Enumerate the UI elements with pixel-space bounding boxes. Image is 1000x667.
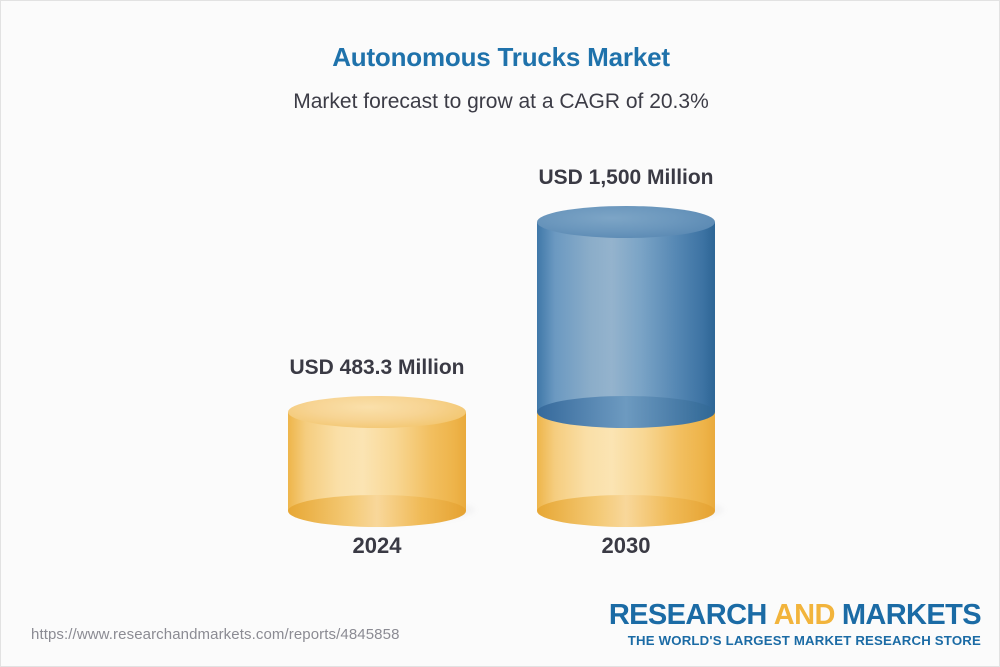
source-url-text[interactable]: https://www.researchandmarkets.com/repor…	[31, 626, 400, 643]
brand-tagline: THE WORLD'S LARGEST MARKET RESEARCH STOR…	[609, 633, 981, 648]
bar-bottom-cap-2024	[288, 495, 466, 527]
bar-bottom-cap-2030	[537, 495, 715, 527]
data-label-2030: USD 1,500 Million	[526, 166, 726, 190]
brand-word-and: AND	[774, 599, 835, 631]
bar-segment-divider-2030	[537, 396, 715, 428]
brand-wordmark: RESEARCHANDMARKETS	[609, 601, 981, 630]
bar-cylinder-2030[interactable]	[537, 206, 715, 527]
bar-segment-2030-growth	[537, 222, 715, 412]
brand-word-research: RESEARCH	[609, 599, 767, 631]
chart-canvas: Autonomous Trucks Market Market forecast…	[0, 0, 1000, 667]
bar-top-cap-2024	[288, 396, 466, 428]
brand-word-markets: MARKETS	[842, 599, 981, 631]
data-label-2024: USD 483.3 Million	[277, 356, 477, 380]
x-axis-label-2030: 2030	[526, 533, 726, 559]
brand-logo[interactable]: RESEARCHANDMARKETS THE WORLD'S LARGEST M…	[609, 601, 981, 648]
bar-top-cap-2030	[537, 206, 715, 238]
chart-subtitle: Market forecast to grow at a CAGR of 20.…	[1, 90, 1000, 114]
page-title: Autonomous Trucks Market	[1, 42, 1000, 73]
bar-cylinder-2024[interactable]	[288, 396, 466, 527]
x-axis-label-2024: 2024	[277, 533, 477, 559]
